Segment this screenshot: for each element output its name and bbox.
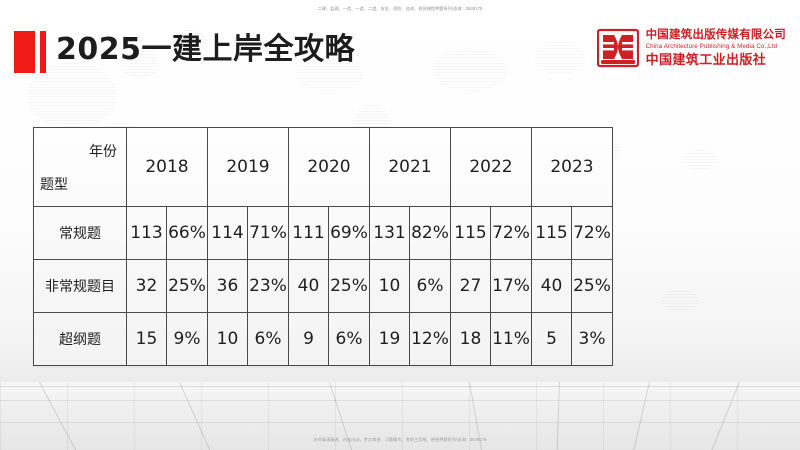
page-title: 2025一建上岸全攻略 [56, 28, 355, 72]
table-cell-percent: 12% [410, 313, 451, 366]
table-cell-count: 131 [370, 207, 410, 260]
title-accent-group [14, 31, 46, 73]
table-cell-count: 5 [532, 313, 572, 366]
table-cell-percent: 25% [572, 260, 613, 313]
table-cell-count: 114 [208, 207, 248, 260]
table-row: 超纲题 15 9% 10 6% 9 6% 19 12% 18 11% 5 3% [34, 313, 613, 366]
table-row: 常规题 113 66% 114 71% 111 69% 131 82% 115 … [34, 207, 613, 260]
table-column-header-year: 2023 [532, 128, 613, 207]
table-cell-percent: 72% [572, 207, 613, 260]
table-cell-percent: 71% [248, 207, 289, 260]
table-cell-percent: 3% [572, 313, 613, 366]
table-column-header-year: 2020 [289, 128, 370, 207]
table-cell-percent: 23% [248, 260, 289, 313]
table-cell-percent: 82% [410, 207, 451, 260]
slide-header: 2025一建上岸全攻略 中国建筑出版传媒有限公司 Chin [0, 0, 800, 92]
publisher-logo: 中国建筑出版传媒有限公司 China Architecture Publishi… [597, 28, 786, 68]
table-cell-percent: 66% [167, 207, 208, 260]
table-cell-count: 10 [370, 260, 410, 313]
table-cell-percent: 6% [329, 313, 370, 366]
corner-header-type-label: 题型 [40, 174, 68, 194]
publisher-press-cn: 中国建筑工业出版社 [646, 52, 786, 68]
bottom-watermark-text: 名师高清精讲、内含内训、考点串讲、习题精专、考前三页纸、绝密押题系列/咨询：36… [0, 437, 800, 443]
table-column-header-year: 2021 [370, 128, 451, 207]
table-cell-count: 36 [208, 260, 248, 313]
table-row-label: 常规题 [34, 207, 127, 260]
corner-header-year-label: 年份 [89, 141, 117, 161]
red-accent-bar-icon [40, 31, 46, 73]
table-cell-count: 15 [127, 313, 167, 366]
table-row: 非常规题目 32 25% 36 23% 40 25% 10 6% 27 17% … [34, 260, 613, 313]
table-column-header-year: 2022 [451, 128, 532, 207]
slide-canvas: 二建、监理、一造、一造、二造、安全、消防、咨询、检测课程押题系列/咨询：3649… [0, 0, 800, 450]
table-cell-count: 27 [451, 260, 491, 313]
table-cell-count: 10 [208, 313, 248, 366]
table-row-label: 超纲题 [34, 313, 127, 366]
table-cell-percent: 6% [410, 260, 451, 313]
table-cell-count: 40 [532, 260, 572, 313]
table-cell-count: 32 [127, 260, 167, 313]
table-cell-count: 111 [289, 207, 329, 260]
table-cell-count: 19 [370, 313, 410, 366]
publisher-logo-text: 中国建筑出版传媒有限公司 China Architecture Publishi… [646, 29, 786, 68]
table-cell-percent: 11% [491, 313, 532, 366]
table-cell-percent: 9% [167, 313, 208, 366]
table-cell-percent: 72% [491, 207, 532, 260]
table-row-label: 非常规题目 [34, 260, 127, 313]
table-cell-percent: 25% [167, 260, 208, 313]
table-cell-count: 115 [532, 207, 572, 260]
table-cell-percent: 25% [329, 260, 370, 313]
publisher-book-logo-icon [597, 28, 639, 68]
table-column-header-year: 2019 [208, 128, 289, 207]
stat-table-container: 年份 题型 2018 2019 2020 2021 2022 2023 常规题 … [33, 127, 613, 366]
table-column-header-year: 2018 [127, 128, 208, 207]
table-cell-percent: 17% [491, 260, 532, 313]
table-cell-count: 9 [289, 313, 329, 366]
table-cell-count: 113 [127, 207, 167, 260]
table-cell-percent: 69% [329, 207, 370, 260]
table-header-row: 年份 题型 2018 2019 2020 2021 2022 2023 [34, 128, 613, 207]
red-accent-block-icon [14, 31, 35, 73]
table-cell-count: 40 [289, 260, 329, 313]
publisher-company-cn: 中国建筑出版传媒有限公司 [646, 29, 786, 42]
table-corner-header: 年份 题型 [34, 128, 127, 207]
table-cell-percent: 6% [248, 313, 289, 366]
table-cell-count: 18 [451, 313, 491, 366]
question-type-distribution-table: 年份 题型 2018 2019 2020 2021 2022 2023 常规题 … [33, 127, 613, 366]
publisher-company-en: China Architecture Publishing & Media Co… [646, 43, 786, 51]
table-cell-count: 115 [451, 207, 491, 260]
